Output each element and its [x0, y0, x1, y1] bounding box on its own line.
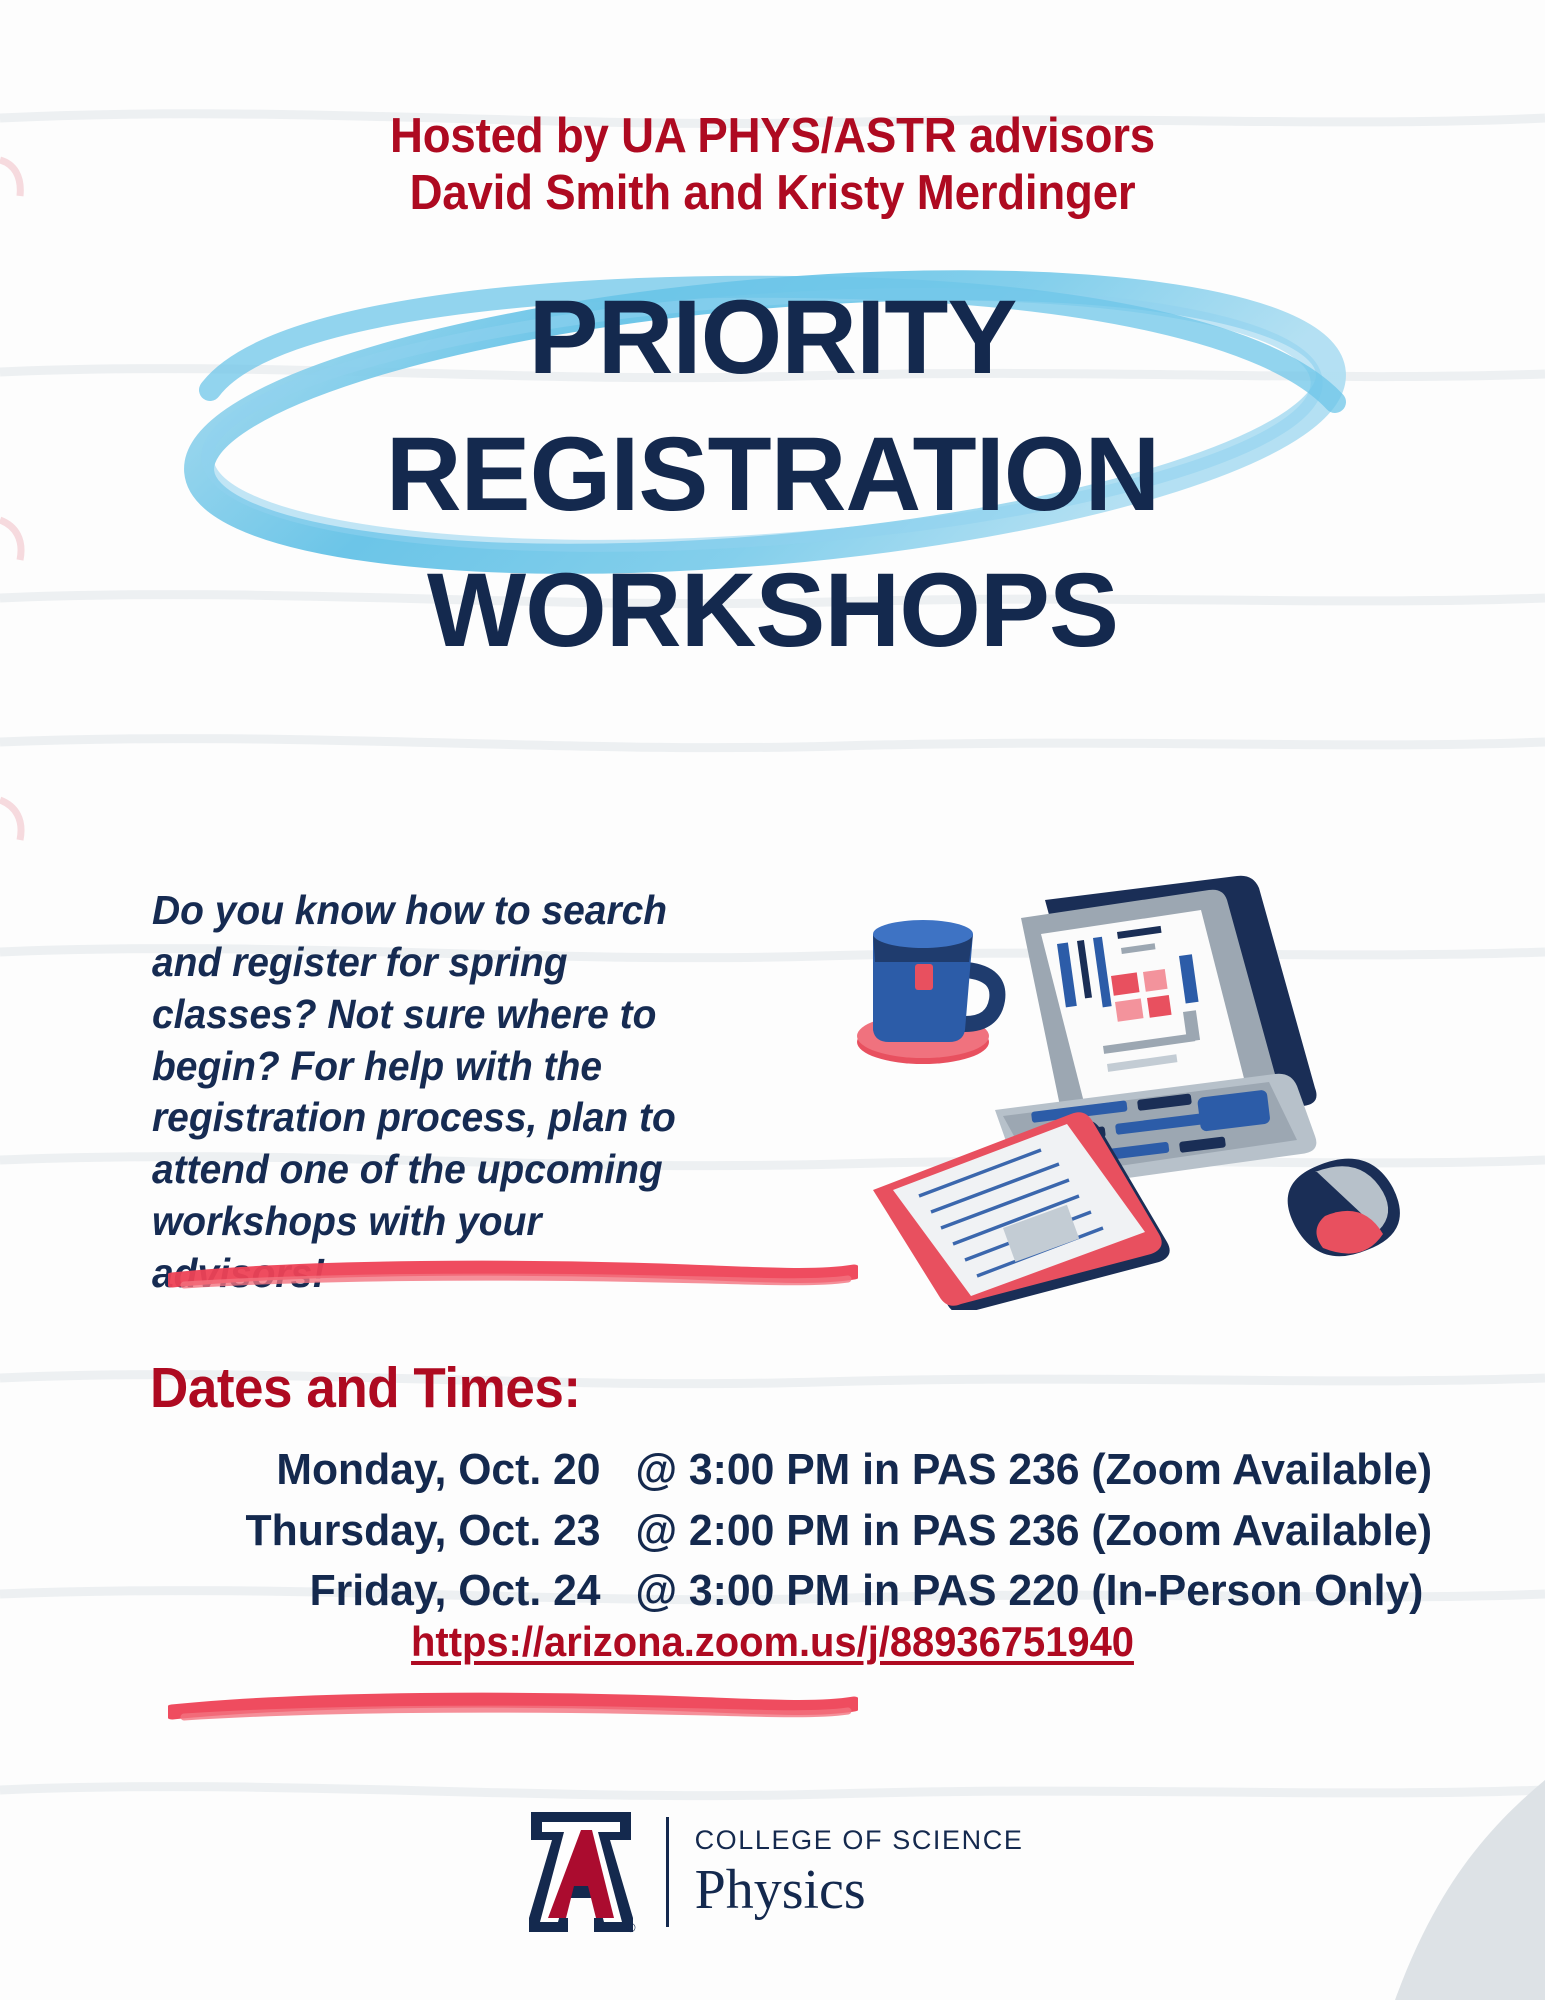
date-when: Friday, Oct. 24 — [222, 1561, 618, 1622]
laptop-workspace-illustration — [845, 860, 1425, 1310]
date-what: @ 2:00 PM in PAS 236 (Zoom Available) — [618, 1501, 1314, 1562]
date-row: Friday, Oct. 24 @ 3:00 PM in PAS 220 (In… — [0, 1561, 1545, 1622]
zoom-meeting-link[interactable]: https://arizona.zoom.us/j/88936751940 — [39, 1618, 1507, 1666]
dates-heading: Dates and Times: — [150, 1355, 581, 1421]
poster-title: PRIORITY REGISTRATION WORKSHOPS — [0, 270, 1545, 680]
host-line-2: David Smith and Kristy Merdinger — [54, 165, 1491, 222]
date-when: Monday, Oct. 20 — [222, 1440, 618, 1501]
dates-list: Monday, Oct. 20 @ 3:00 PM in PAS 236 (Zo… — [0, 1440, 1545, 1622]
intro-paragraph: Do you know how to search and register f… — [152, 885, 703, 1300]
logo-wordmark: COLLEGE OF SCIENCE Physics — [695, 1827, 1024, 1918]
poster-title-block: PRIORITY REGISTRATION WORKSHOPS — [0, 262, 1545, 662]
date-when: Thursday, Oct. 23 — [222, 1501, 618, 1562]
date-row: Monday, Oct. 20 @ 3:00 PM in PAS 236 (Zo… — [0, 1440, 1545, 1501]
logo-unit-line: Physics — [695, 1862, 1024, 1918]
red-brush-rule-bottom — [168, 1690, 858, 1726]
title-line-2: REGISTRATION — [0, 407, 1545, 544]
date-row: Thursday, Oct. 23 @ 2:00 PM in PAS 236 (… — [0, 1501, 1545, 1562]
logo-college-line: COLLEGE OF SCIENCE — [695, 1827, 1024, 1854]
host-line-1: Hosted by UA PHYS/ASTR advisors — [54, 108, 1491, 165]
logo-divider — [666, 1817, 669, 1927]
poster-canvas: Hosted by UA PHYS/ASTR advisors David Sm… — [0, 0, 1545, 2000]
registered-mark: ® — [626, 1920, 636, 1935]
host-heading: Hosted by UA PHYS/ASTR advisors David Sm… — [54, 108, 1491, 223]
ua-college-logo-lockup: ® COLLEGE OF SCIENCE Physics — [0, 1806, 1545, 1938]
ua-block-a-icon: ® — [522, 1806, 640, 1938]
red-brush-rule-top — [168, 1258, 858, 1294]
date-what: @ 3:00 PM in PAS 220 (In-Person Only) — [618, 1561, 1314, 1622]
title-line-3: WORKSHOPS — [0, 543, 1545, 680]
date-what: @ 3:00 PM in PAS 236 (Zoom Available) — [618, 1440, 1314, 1501]
title-line-1: PRIORITY — [0, 270, 1545, 407]
